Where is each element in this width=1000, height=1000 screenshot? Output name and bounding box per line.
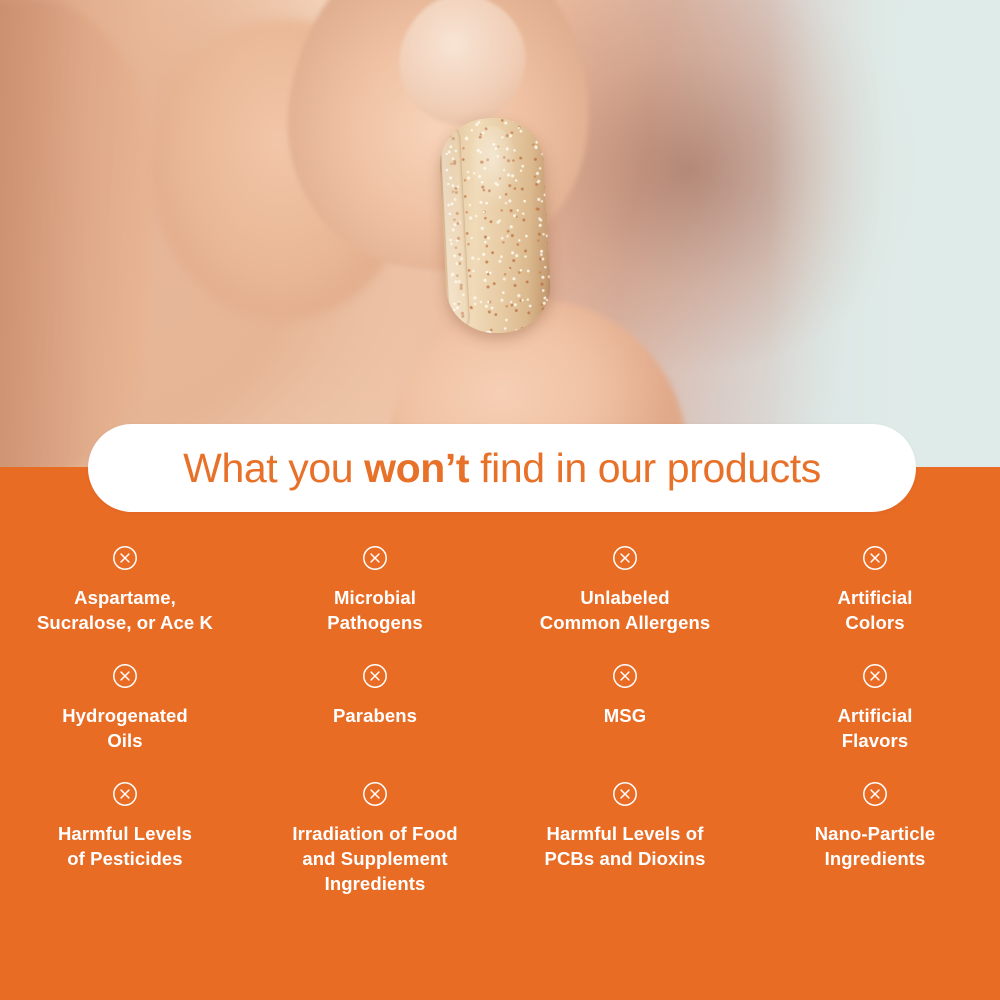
exclusions-panel: Aspartame, Sucralose, or Ace KMicrobial … — [0, 467, 1000, 1000]
exclusion-item: Harmful Levels of Pesticides — [0, 781, 250, 896]
exclusion-item-label: Hydrogenated Oils — [62, 704, 188, 753]
exclusion-item: Unlabeled Common Allergens — [500, 545, 750, 635]
circle-x-icon — [112, 781, 138, 807]
photo-left-shadow — [0, 0, 150, 470]
product-exclusions-poster: Aspartame, Sucralose, or Ace KMicrobial … — [0, 0, 1000, 1000]
headline-pill: What you won’t find in our products — [88, 424, 916, 512]
circle-x-icon — [362, 545, 388, 571]
exclusion-item-label: Parabens — [333, 704, 417, 729]
page-title: What you won’t find in our products — [183, 448, 821, 489]
circle-x-icon — [612, 545, 638, 571]
exclusion-item: Irradiation of Food and Supplement Ingre… — [250, 781, 500, 896]
exclusion-item-label: Artificial Flavors — [837, 704, 912, 753]
exclusion-item: Artificial Flavors — [750, 663, 1000, 753]
circle-x-icon — [862, 545, 888, 571]
photo-right-glow — [770, 0, 1000, 470]
exclusion-item-label: Aspartame, Sucralose, or Ace K — [37, 586, 213, 635]
exclusion-item-label: Nano-Particle Ingredients — [815, 822, 936, 871]
headline-part-2: find in our products — [469, 445, 821, 491]
circle-x-icon — [362, 663, 388, 689]
exclusion-item: Nano-Particle Ingredients — [750, 781, 1000, 896]
exclusion-item: Artificial Colors — [750, 545, 1000, 635]
circle-x-icon — [862, 663, 888, 689]
circle-x-icon — [362, 781, 388, 807]
circle-x-icon — [112, 545, 138, 571]
exclusion-item-label: Irradiation of Food and Supplement Ingre… — [292, 822, 457, 896]
exclusion-item-label: Unlabeled Common Allergens — [540, 586, 711, 635]
circle-x-icon — [862, 781, 888, 807]
exclusion-item-label: Artificial Colors — [837, 586, 912, 635]
supplement-tablet — [437, 115, 552, 335]
exclusion-item-label: MSG — [604, 704, 646, 729]
exclusion-item: Microbial Pathogens — [250, 545, 500, 635]
exclusion-item: Hydrogenated Oils — [0, 663, 250, 753]
headline-part-1: What you — [183, 445, 364, 491]
exclusion-item-label: Microbial Pathogens — [327, 586, 422, 635]
headline-emphasis: won’t — [364, 445, 469, 491]
circle-x-icon — [612, 781, 638, 807]
exclusion-item-label: Harmful Levels of Pesticides — [58, 822, 192, 871]
circle-x-icon — [112, 663, 138, 689]
product-photo — [0, 0, 1000, 470]
exclusion-item: Harmful Levels of PCBs and Dioxins — [500, 781, 750, 896]
exclusion-item: MSG — [500, 663, 750, 753]
exclusion-item: Parabens — [250, 663, 500, 753]
exclusion-item: Aspartame, Sucralose, or Ace K — [0, 545, 250, 635]
exclusion-item-label: Harmful Levels of PCBs and Dioxins — [545, 822, 706, 871]
exclusions-grid: Aspartame, Sucralose, or Ace KMicrobial … — [0, 545, 1000, 896]
circle-x-icon — [612, 663, 638, 689]
